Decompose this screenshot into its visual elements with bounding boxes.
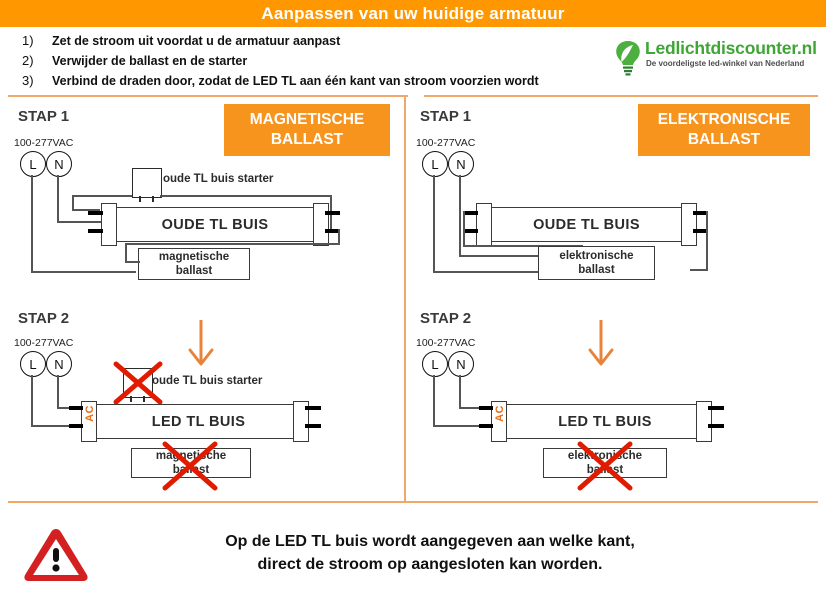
page-title: Aanpassen van uw huidige armatuur [261,4,564,24]
divider-bottom [8,501,818,503]
left-step2-tube: LED TL BUIS [95,404,302,439]
left-step1-tube-cap-right [313,203,329,246]
left-step1-terminal-l: L [20,151,46,177]
right-step1-wire-n-vertical [459,175,461,257]
footer-line-1: Op de LED TL buis wordt aangegeven aan w… [110,530,750,553]
list-item: 2) Verwijder de ballast en de starter [22,53,622,68]
right-step2-voltage: 100-277VAC [416,337,475,349]
left-step1-starter-pin-1 [139,196,141,202]
left-step1-pin-r1 [325,211,340,215]
list-item: 3) Verbind de draden door, zodat de LED … [22,73,622,88]
right-step1-tube-cap-right [681,203,697,246]
left-step1-tube-cap-left [101,203,117,246]
badge-line-2: BALLAST [224,130,390,150]
left-step2-starter-label: oude TL buis starter [152,375,262,387]
badge-magnetic-ballast: MAGNETISCHE BALLAST [224,104,390,156]
left-step1-wire-l-bottom [31,271,136,273]
instruction-number: 3) [22,73,52,88]
right-step2-label: STAP 2 [420,310,471,327]
left-step1-pin-l2 [88,229,103,233]
left-step1-ballast-in [125,261,140,263]
left-step1-ballast-rail-top [125,243,340,245]
right-step2-pin-l2 [479,424,493,428]
right-step1-right-rail-in [690,269,708,271]
instruction-list: 1) Zet de stroom uit voordat u de armatu… [22,33,622,93]
right-step1-ballast-box: elektronische ballast [538,246,655,280]
right-step1-pin-l2 [463,229,478,233]
left-down-arrow-icon [186,318,216,368]
right-step1-wire-l-vertical [433,175,435,273]
right-step2-wire-n-vertical [459,375,461,409]
left-step2-pin-l1 [69,406,83,410]
footer-line-2: direct de stroom op aangesloten kan word… [110,553,750,576]
right-step2-tube: LED TL BUIS [505,404,705,439]
ballast-line-2: ballast [176,265,212,277]
instruction-text: Zet de stroom uit voordat u de armatuur … [52,34,340,48]
badge-electronic-ballast: ELEKTRONISCHE BALLAST [638,104,810,156]
right-step2-terminal-l: L [422,351,448,377]
left-step1-wire-l-vertical [31,175,33,273]
left-step2-ac-label: AC [84,405,96,422]
left-step1-tube: OUDE TL BUIS [108,207,322,242]
right-step2-ballast-x-icon [576,440,634,492]
left-step2-pin-l2 [69,424,83,428]
brand-logo: Ledlichtdiscounter.nl De voordeligste le… [613,38,818,80]
header-banner: Aanpassen van uw huidige armatuur [0,0,826,27]
right-step1-pin-l1 [463,211,478,215]
left-step1-starter-rail-right [160,195,330,197]
right-step1-tube-cap-left [476,203,492,246]
left-step1-starter-pin-2 [152,196,154,202]
right-step2-ac-label: AC [494,405,506,422]
right-step2-terminal-n: N [448,351,474,377]
left-step2-wire-n-vertical [57,375,59,409]
instruction-text: Verbind de draden door, zodat de LED TL … [52,74,539,88]
right-step2-tube-label: LED TL BUIS [558,414,652,430]
left-step1-ballast-drop [125,243,127,263]
left-step2-wire-l-vertical [31,375,33,427]
left-step1-wire-n-vertical [57,175,59,223]
infographic-page: Aanpassen van uw huidige armatuur 1) Zet… [0,0,826,598]
left-step1-wire-n-to-tube [57,221,102,223]
left-step1-ballast-box: magnetische ballast [138,248,250,280]
left-step2-pin-r1 [305,406,321,410]
warning-triangle-icon [22,525,90,585]
left-step1-pin-l1 [88,211,103,215]
left-step1-label: STAP 1 [18,108,69,125]
right-step1-tube: OUDE TL BUIS [483,207,690,242]
right-step1-ballast-label: elektronische ballast [559,249,633,277]
ballast-line-1: elektronische [559,250,633,262]
badge-line-1: MAGNETISCHE [224,110,390,130]
right-step2-wire-l-vertical [433,375,435,427]
left-step1-starter-rail-left [72,195,132,197]
left-step2-starter-x-icon [112,360,164,406]
ballast-line-2: ballast [578,264,614,276]
left-step1-starter-label: oude TL buis starter [163,173,273,185]
left-step2-ballast-x-icon [161,440,219,492]
instruction-number: 2) [22,53,52,68]
divider-top-right [424,95,818,97]
left-step2-label: STAP 2 [18,310,69,327]
left-step1-ballast-right-link [338,229,340,243]
right-step1-terminal-l: L [422,151,448,177]
logo-tagline: De voordeligste led-winkel van Nederland [646,59,804,68]
right-step2-pin-r2 [708,424,724,428]
right-step1-wire-n-horizontal [459,255,538,257]
left-step2-tube-label: LED TL BUIS [152,414,246,430]
right-step1-right-pin-rail [706,211,708,271]
instruction-text: Verwijder de ballast en de starter [52,54,247,68]
right-step1-tube-label: OUDE TL BUIS [533,217,640,233]
left-step2-terminal-n: N [46,351,72,377]
right-step2-pin-l1 [479,406,493,410]
left-step2-terminal-l: L [20,351,46,377]
right-step1-wire-l-horizontal [433,271,538,273]
right-step1-voltage: 100-277VAC [416,137,475,149]
right-step1-label: STAP 1 [420,108,471,125]
divider-vertical [404,97,406,501]
right-down-arrow-icon [586,318,616,368]
left-step1-tube-label: OUDE TL BUIS [162,217,269,233]
ballast-line-1: magnetische [159,251,229,263]
right-step2-pin-r1 [708,406,724,410]
left-step1-starter-box [132,168,162,198]
right-step1-left-pin-rail [463,211,465,247]
left-step1-terminal-n: N [46,151,72,177]
left-step1-ballast-label: magnetische ballast [159,250,229,278]
left-step2-voltage: 100-277VAC [14,337,73,349]
list-item: 1) Zet de stroom uit voordat u de armatu… [22,33,622,48]
badge-line-1: ELEKTRONISCHE [638,110,810,130]
badge-line-2: BALLAST [638,130,810,150]
footer-warning-text: Op de LED TL buis wordt aangegeven aan w… [110,530,750,576]
logo-name: Ledlichtdiscounter.nl [645,38,817,59]
lightbulb-leaf-icon [613,40,643,76]
left-step2-pin-r2 [305,424,321,428]
right-step1-terminal-n: N [448,151,474,177]
instruction-number: 1) [22,33,52,48]
left-step1-voltage: 100-277VAC [14,137,73,149]
divider-top-left [8,95,408,97]
